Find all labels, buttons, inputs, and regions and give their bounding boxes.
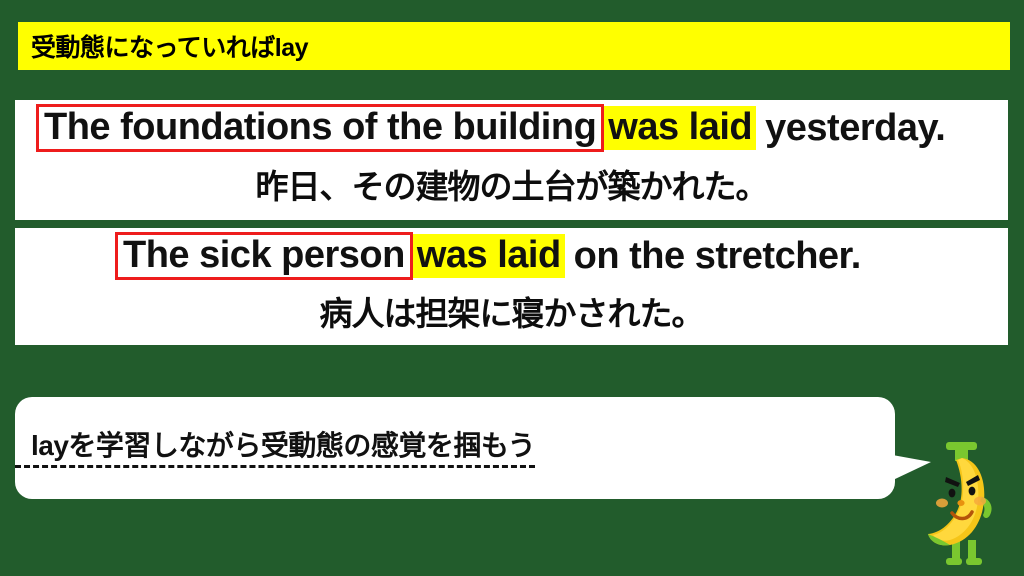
- banana-mascot: [916, 441, 1012, 569]
- translation-2: 病人は担架に寝かされた。: [15, 284, 1008, 335]
- page-title: 受動態になっていればlay: [18, 28, 308, 64]
- example-sentence-1: The foundations of the building was laid…: [15, 100, 1008, 156]
- verb-phrase-highlight-2: was laid: [413, 234, 565, 279]
- translation-1: 昨日、その建物の土台が築かれた。: [15, 156, 1008, 208]
- callout-text: layを学習しながら受動態の感覚を掴もう: [15, 428, 535, 468]
- example-panel-1: The foundations of the building was laid…: [15, 100, 1008, 220]
- subject-phrase-box-1: The foundations of the building: [36, 104, 604, 153]
- sentence-remainder-1: yesterday.: [756, 107, 945, 150]
- sentence-remainder-2: on the stretcher.: [565, 235, 861, 278]
- subject-phrase-box-2: The sick person: [115, 232, 413, 281]
- verb-phrase-highlight-1: was laid: [604, 106, 756, 151]
- example-sentence-2: The sick person was laid on the stretche…: [15, 228, 1008, 284]
- callout-speech-bubble: layを学習しながら受動態の感覚を掴もう: [15, 397, 895, 499]
- slide-title-banner: 受動態になっていればlay: [18, 22, 1010, 70]
- example-panel-2: The sick person was laid on the stretche…: [15, 228, 1008, 345]
- banana-mascot-icon: [916, 441, 1012, 569]
